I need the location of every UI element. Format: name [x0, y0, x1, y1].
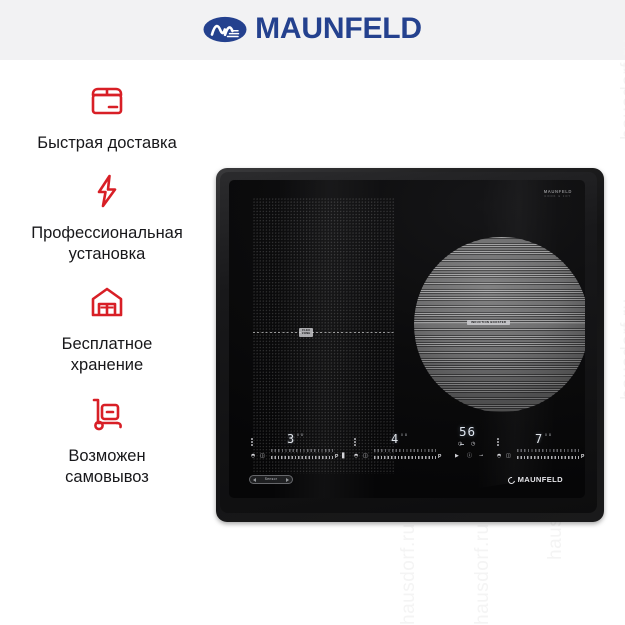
flex-zone-divider — [253, 332, 394, 333]
zone-1-slider-active[interactable] — [271, 456, 333, 459]
zone-3-dots-icon — [497, 438, 500, 446]
flex-zone-badge: FLEX ZONE — [299, 328, 313, 337]
induction-cooktop: FLEX ZONE INDUCTION BOOSTER MAUNFELD COO… — [216, 168, 604, 522]
touch-control-panel[interactable]: 3 0 8 P ◓ ◫ ▋ 4 — [241, 418, 573, 486]
zone-2-slider-active[interactable] — [374, 456, 436, 459]
warehouse-icon — [84, 279, 130, 325]
zone-3-slider[interactable] — [517, 449, 579, 452]
delivery-box-icon — [84, 78, 130, 124]
cooktop-brand-logo: MAUNFELD — [508, 476, 563, 484]
key-lock-icon[interactable]: ◫ — [363, 454, 368, 459]
feature-label: Быстрая доставка — [37, 133, 177, 154]
zone-1-slider[interactable] — [271, 449, 333, 452]
zone-2-level-sub: 8 — [405, 434, 407, 438]
pot-icon[interactable]: ◓ — [251, 454, 255, 459]
pot-icon[interactable]: ◓ — [354, 454, 358, 459]
cooktop-glass-surface: FLEX ZONE INDUCTION BOOSTER MAUNFELD COO… — [229, 180, 585, 498]
zone-2-power-mark[interactable]: P — [438, 455, 441, 460]
glass-logo-tagline: COOK & JOY — [544, 195, 572, 198]
keep-warm-icon[interactable]: ⊸ — [479, 454, 483, 459]
bridge-icon[interactable]: ▋ — [342, 454, 346, 459]
zone-2-level-display: 4 — [391, 433, 398, 445]
watermark: hausdorf.ru — [398, 523, 420, 625]
header-band: MAUNFELD — [0, 0, 625, 60]
lightning-bolt-icon — [84, 168, 130, 214]
zone-3-level-sub: 0 — [545, 434, 547, 438]
zone-1-dots-icon — [251, 438, 254, 446]
glass-logo-name: MAUNFELD — [544, 190, 572, 195]
boost-icon[interactable]: ◫ — [506, 454, 511, 459]
feature-item-delivery: Быстрая доставка — [0, 78, 214, 154]
watermark: hausdorf.ru — [618, 298, 625, 400]
zone-2-slider[interactable] — [374, 449, 436, 452]
zone-3-level-sub: 8 — [549, 434, 551, 438]
cooktop-bevel: FLEX ZONE INDUCTION BOOSTER MAUNFELD COO… — [220, 172, 597, 513]
hand-truck-icon — [84, 391, 130, 437]
zone-1-level-sub: 0 — [297, 434, 299, 438]
brand-lockup: MAUNFELD — [203, 14, 422, 44]
sensor-badge-label: Sensor — [265, 478, 278, 481]
cooktop-frame: FLEX ZONE INDUCTION BOOSTER MAUNFELD COO… — [216, 168, 604, 522]
zone-3-power-mark[interactable]: P — [581, 455, 584, 460]
timer-display: 56 — [459, 426, 476, 439]
timer-clock-icon[interactable]: ◷ — [458, 442, 462, 447]
zone-1-level-sub: 8 — [301, 434, 303, 438]
power-icon[interactable]: ⓘ — [467, 454, 472, 459]
feature-item-installation: Профессиональная установка — [0, 168, 214, 265]
zone-3-slider-active[interactable] — [517, 456, 579, 459]
zone-2-level-sub: 0 — [401, 434, 403, 438]
maunfeld-ring-icon — [506, 475, 516, 485]
booster-zone-badge: INDUCTION BOOSTER — [467, 320, 510, 325]
feature-list: Быстрая доставка Профессиональная устано… — [0, 78, 214, 502]
watermark: hausdorf.ru — [472, 523, 494, 625]
pause-icon[interactable]: ▶ — [455, 454, 459, 459]
zone-1-power-mark[interactable]: P — [335, 455, 338, 460]
maunfeld-wave-emblem-icon — [203, 16, 247, 43]
glass-corner-logo: MAUNFELD COOK & JOY — [544, 190, 572, 198]
feature-item-pickup: Возможен самовывоз — [0, 391, 214, 488]
feature-label: Профессиональная установка — [31, 223, 183, 265]
feature-label: Бесплатное хранение — [62, 334, 153, 376]
timer-clock-icon[interactable]: ◷ — [471, 442, 475, 447]
lock-icon[interactable]: ◫ — [260, 454, 265, 459]
sensor-badge: Sensor — [249, 475, 293, 484]
zone-1-level-display: 3 — [287, 433, 294, 445]
feature-item-storage: Бесплатное хранение — [0, 279, 214, 376]
pot-icon[interactable]: ◓ — [497, 454, 501, 459]
brand-wordmark: MAUNFELD — [255, 14, 422, 44]
cooktop-brand-word: MAUNFELD — [518, 476, 563, 484]
feature-label: Возможен самовывоз — [65, 446, 149, 488]
zone-3-level-display: 7 — [535, 433, 542, 445]
page-root: MAUNFELD hausdorf.ru hausdorf.ru hausdor… — [0, 0, 625, 625]
zone-2-dots-icon — [354, 438, 357, 446]
